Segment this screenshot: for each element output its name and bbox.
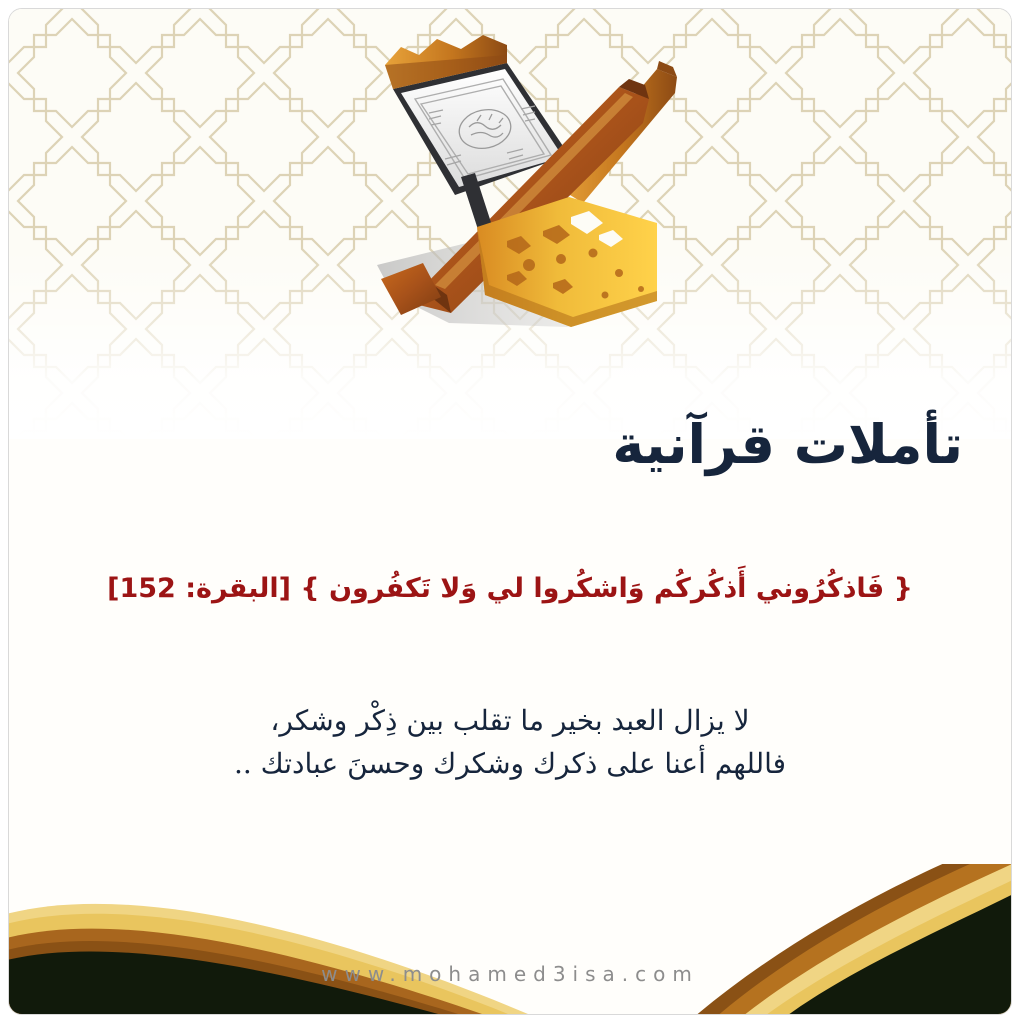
page-title: تأملات قرآنية (612, 413, 963, 478)
gold-green-swoosh-icon (9, 864, 1011, 1014)
site-url[interactable]: www.mohamed3isa.com (9, 962, 1011, 986)
quran-verse-text: { فَاذكُرُوني أَذكُركُم وَاشكُروا لي وَل… (107, 569, 913, 610)
reflection-text-container: لا يزال العبد بخير ما تقلب بين ذِكْر وشك… (9, 699, 1011, 786)
quran-on-rehal-icon (357, 27, 687, 367)
poster-card: تأملات قرآنية { فَاذكُرُوني أَذكُركُم وَ… (8, 8, 1012, 1015)
footer-decoration (9, 864, 1011, 1014)
verse-container: { فَاذكُرُوني أَذكُركُم وَاشكُروا لي وَل… (9, 569, 1011, 610)
reflection-line-2: فاللهم أعنا على ذكرك وشكرك وحسنَ عبادتك … (9, 742, 1011, 785)
quran-rehal-illustration (357, 27, 687, 367)
poster-canvas: تأملات قرآنية { فَاذكُرُوني أَذكُركُم وَ… (0, 0, 1020, 1023)
reflection-line-1: لا يزال العبد بخير ما تقلب بين ذِكْر وشك… (9, 699, 1011, 742)
